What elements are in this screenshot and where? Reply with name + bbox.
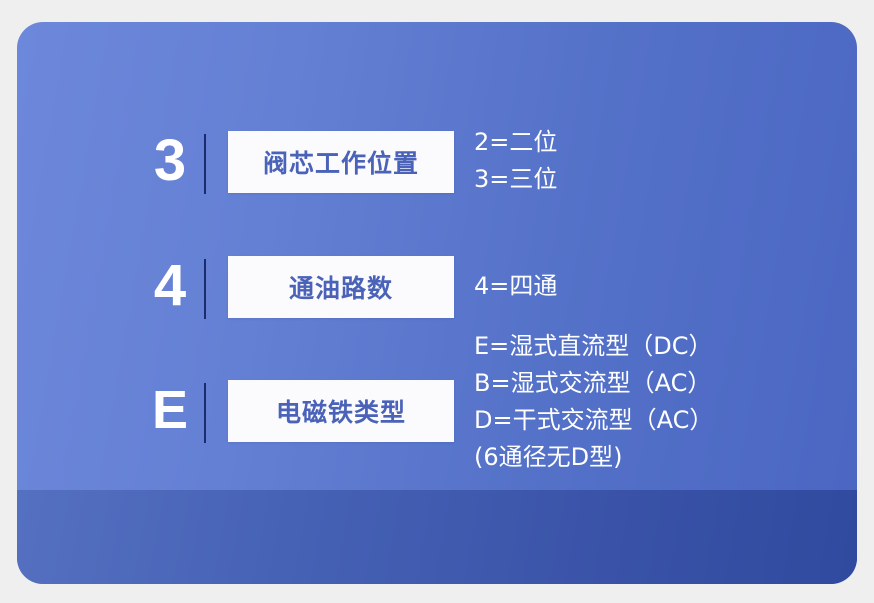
spec-row: 4 通油路数 4=四通 [17,246,857,330]
row-divider-line [204,134,206,194]
row-divider-line [204,383,206,443]
spec-description-line: D=干式交流型（AC） [474,402,854,439]
spec-description-line: 4=四通 [474,268,854,305]
spec-description-line: (6通径无D型) [474,439,854,476]
spec-row: E 电磁铁类型 E=湿式直流型（DC） B=湿式交流型（AC） D=干式交流型（… [17,370,857,454]
spec-description-line: B=湿式交流型（AC） [474,365,854,402]
spec-label-text: 阀芯工作位置 [263,144,419,180]
spec-description-block: 4=四通 [474,268,854,305]
spec-row-list: 3 阀芯工作位置 2=二位 3=三位 4 通油路数 4=四通 [17,22,857,490]
spec-label-box: 电磁铁类型 [228,380,454,442]
spec-code-glyph: E [135,379,205,441]
row-divider-line [204,259,206,319]
spec-row: 3 阀芯工作位置 2=二位 3=三位 [17,121,857,205]
spec-label-text: 电磁铁类型 [276,393,406,429]
spec-card: 3 阀芯工作位置 2=二位 3=三位 4 通油路数 4=四通 [17,22,857,584]
spec-code-glyph: 3 [135,130,205,192]
spec-description-line: 3=三位 [474,161,854,198]
page-root: 3 阀芯工作位置 2=二位 3=三位 4 通油路数 4=四通 [0,0,874,603]
spec-label-text: 通油路数 [289,269,393,305]
spec-description-line: E=湿式直流型（DC） [474,328,854,365]
card-bottom-band [17,490,857,584]
spec-description-block: E=湿式直流型（DC） B=湿式交流型（AC） D=干式交流型（AC） (6通径… [474,328,854,476]
spec-code-glyph: 4 [135,255,205,317]
spec-label-box: 阀芯工作位置 [228,131,454,193]
spec-description-block: 2=二位 3=三位 [474,124,854,198]
spec-description-line: 2=二位 [474,124,854,161]
spec-label-box: 通油路数 [228,256,454,318]
